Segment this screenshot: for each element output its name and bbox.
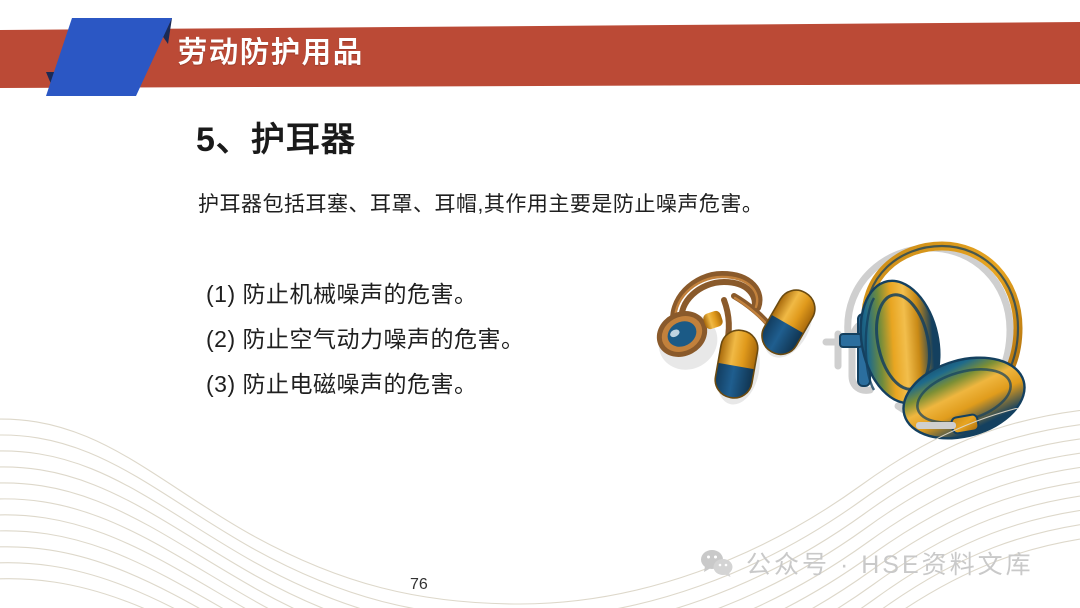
wechat-icon (700, 549, 734, 577)
slide-canvas: 劳动防护用品 5、护耳器 护耳器包括耳塞、耳罩、耳帽,其作用主要是防止噪声危害。… (0, 0, 1080, 608)
earplug-middle (712, 327, 760, 401)
list-item: (1) 防止机械噪声的危害。 (206, 272, 525, 317)
corded-earplugs (649, 274, 823, 409)
bullet-list: (1) 防止机械噪声的危害。 (2) 防止空气动力噪声的危害。 (3) 防止电磁… (206, 272, 525, 407)
list-item: (3) 防止电磁噪声的危害。 (206, 362, 525, 407)
header-banner: 劳动防护用品 (0, 0, 1080, 110)
watermark: 公众号 · HSE资料文库 (700, 545, 1034, 581)
header-title: 劳动防护用品 (178, 34, 364, 72)
section-heading: 5、护耳器 (196, 112, 356, 161)
hearing-protection-illustration (612, 230, 1042, 440)
list-item: (2) 防止空气动力噪声的危害。 (206, 317, 525, 362)
watermark-text: 公众号 · HSE资料文库 (746, 545, 1034, 581)
section-description: 护耳器包括耳塞、耳罩、耳帽,其作用主要是防止噪声危害。 (198, 188, 763, 218)
page-number: 76 (410, 576, 428, 594)
illustration-graphic (612, 230, 1042, 440)
header-banner-graphic (0, 0, 1080, 110)
earmuffs (826, 246, 1034, 440)
